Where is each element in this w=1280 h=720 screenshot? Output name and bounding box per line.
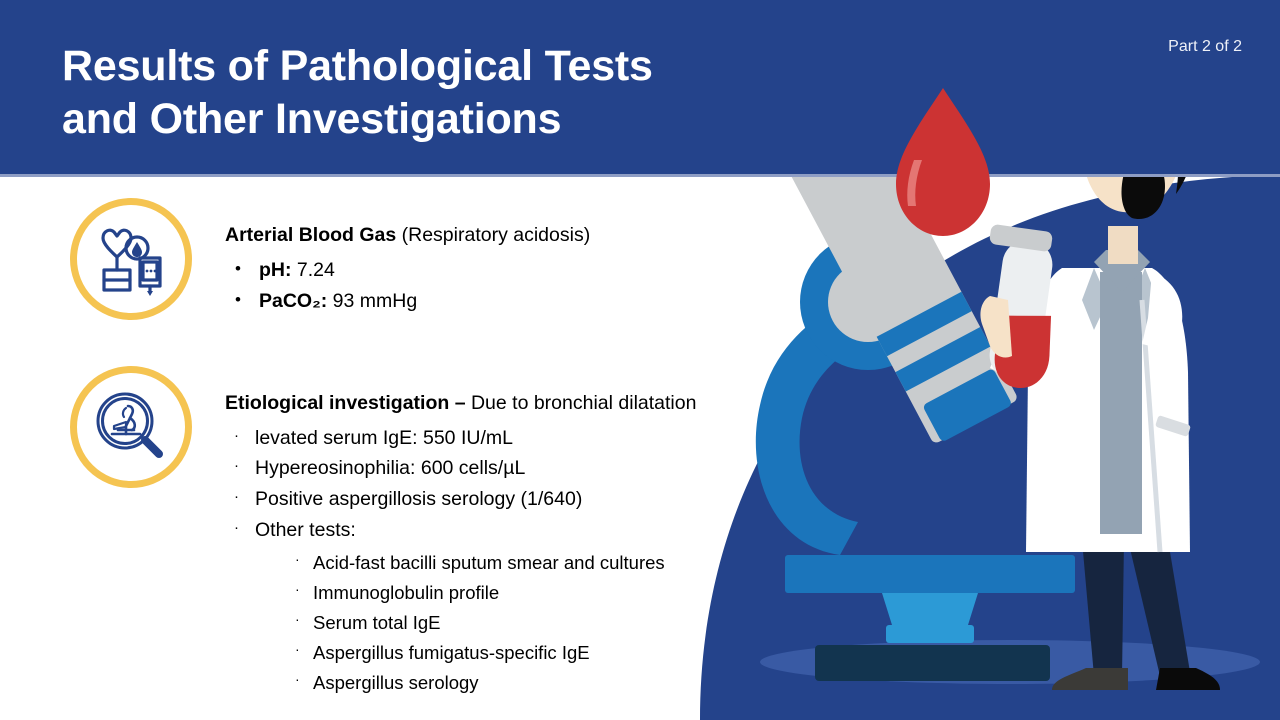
- arterial-blood-gas-heading: Arterial Blood Gas (Respiratory acidosis…: [225, 222, 785, 250]
- list-item: · Serum total IgE: [291, 608, 785, 638]
- bullet-glyph: •: [235, 255, 241, 283]
- sub-bullet-glyph: ·: [295, 608, 300, 631]
- etio-item-text: Positive aspergillosis serology (1/640): [255, 488, 582, 510]
- microscope-magnifier-icon-badge: [70, 366, 192, 488]
- list-item: · Acid-fast bacilli sputum smear and cul…: [291, 548, 785, 578]
- other-test-text: Acid-fast bacilli sputum smear and cultu…: [313, 552, 665, 573]
- page-title: Results of Pathological Tests and Other …: [62, 40, 822, 147]
- bullet-glyph: ·: [234, 485, 239, 509]
- bullet-glyph: ·: [234, 454, 239, 478]
- other-tests-sublist: · Acid-fast bacilli sputum smear and cul…: [255, 548, 785, 698]
- etio-item-text: Hypereosinophilia: 600 cells/µL: [255, 457, 525, 479]
- etio-lead-rest: Due to bronchial dilatation: [466, 392, 697, 414]
- other-test-text: Aspergillus fumigatus-specific IgE: [313, 642, 590, 663]
- etio-lead-bold: Etiological investigation –: [225, 392, 466, 414]
- bullet-glyph: •: [235, 286, 241, 314]
- other-test-text: Serum total IgE: [313, 612, 441, 633]
- abg-item-value: 7.24: [292, 259, 335, 281]
- blood-transfusion-icon: [90, 218, 172, 300]
- sub-bullet-glyph: ·: [295, 548, 300, 571]
- etio-item-text: levated serum IgE: 550 IU/mL: [255, 427, 513, 449]
- list-item: · Hypereosinophilia: 600 cells/µL: [225, 453, 785, 484]
- bullet-glyph: ·: [234, 516, 239, 540]
- other-test-text: Immunoglobulin profile: [313, 582, 499, 603]
- abg-lead-rest: (Respiratory acidosis): [396, 224, 590, 246]
- arterial-blood-gas-block: Arterial Blood Gas (Respiratory acidosis…: [225, 222, 785, 318]
- microscope-magnifier-icon: [90, 386, 172, 468]
- content-area: Arterial Blood Gas (Respiratory acidosis…: [0, 174, 790, 720]
- abg-item-value: 93 mmHg: [327, 290, 417, 312]
- sub-bullet-glyph: ·: [295, 638, 300, 661]
- slide: Results of Pathological Tests and Other …: [0, 0, 1280, 720]
- abg-item-label: pH:: [259, 259, 292, 281]
- list-item: • PaCO₂: 93 mmHg: [225, 286, 785, 318]
- sub-bullet-glyph: ·: [295, 668, 300, 691]
- etiological-investigation-block: Etiological investigation – Due to bronc…: [225, 390, 785, 698]
- abg-lead-bold: Arterial Blood Gas: [225, 224, 396, 246]
- etio-item-text: Other tests:: [255, 519, 356, 541]
- list-item: · Aspergillus serology: [291, 668, 785, 698]
- list-item: · Immunoglobulin profile: [291, 578, 785, 608]
- sub-bullet-glyph: ·: [295, 578, 300, 601]
- list-item: · Aspergillus fumigatus-specific IgE: [291, 638, 785, 668]
- list-item: · levated serum IgE: 550 IU/mL: [225, 423, 785, 454]
- etiological-list: · levated serum IgE: 550 IU/mL · Hypereo…: [225, 423, 785, 698]
- list-item: · Other tests: · Acid-fast bacilli sputu…: [225, 515, 785, 698]
- abg-list: • pH: 7.24 • PaCO₂: 93 mmHg: [225, 255, 785, 318]
- part-label: Part 2 of 2: [1168, 38, 1242, 56]
- list-item: · Positive aspergillosis serology (1/640…: [225, 484, 785, 515]
- abg-item-label: PaCO₂:: [259, 290, 327, 312]
- blood-transfusion-icon-badge: [70, 198, 192, 320]
- other-test-text: Aspergillus serology: [313, 672, 479, 693]
- etiological-investigation-heading: Etiological investigation – Due to bronc…: [225, 390, 785, 418]
- list-item: • pH: 7.24: [225, 255, 785, 287]
- bullet-glyph: ·: [234, 424, 239, 448]
